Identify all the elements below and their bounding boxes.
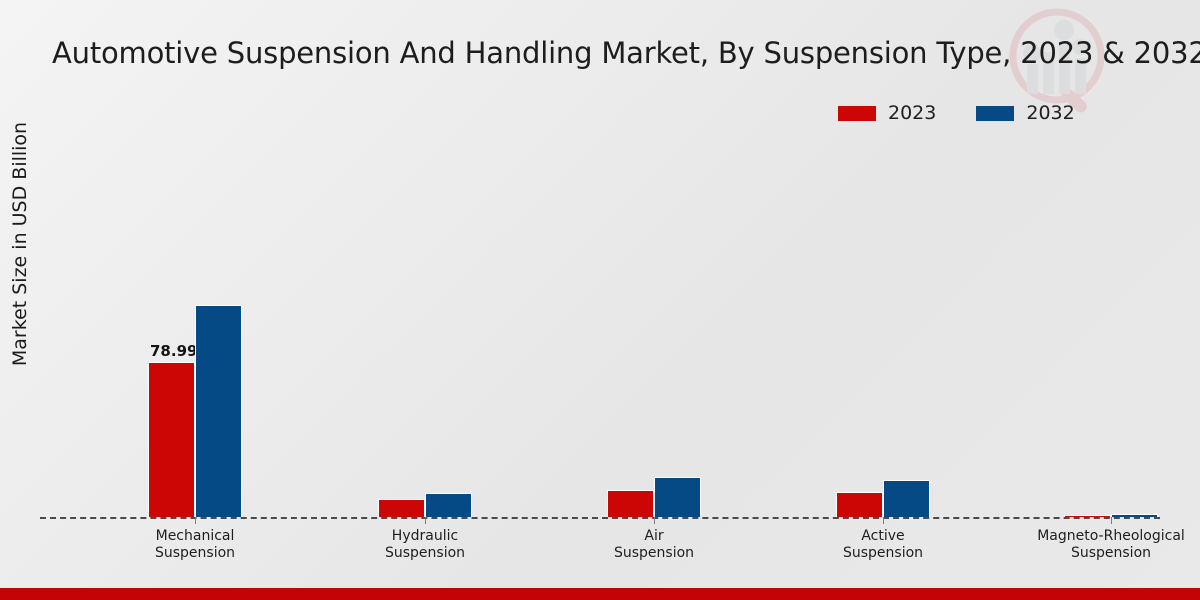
category-label-line: Suspension [385, 545, 465, 562]
plot-area: 78.99MechanicalSuspensionHydraulicSuspen… [40, 140, 1160, 518]
category-label-line: Suspension [1037, 545, 1185, 562]
bar-2023[interactable] [607, 490, 654, 517]
bar-2032[interactable] [425, 493, 472, 517]
bar-2032[interactable] [883, 480, 930, 517]
legend-swatch-2023 [838, 106, 876, 121]
x-axis-baseline [40, 517, 1160, 519]
x-axis-category-label: HydraulicSuspension [385, 528, 465, 562]
legend-item-2023[interactable]: 2023 [838, 104, 936, 123]
category-label-line: Hydraulic [385, 528, 465, 545]
bar-2023[interactable] [836, 492, 883, 517]
bar-pair [607, 477, 701, 517]
chart-legend: 2023 2032 [838, 104, 1075, 123]
bar-pair [378, 493, 472, 517]
x-axis-category-label: Magneto-RheologicalSuspension [1037, 528, 1185, 562]
bar-2032[interactable] [1111, 514, 1158, 517]
chart-title: Automotive Suspension And Handling Marke… [52, 36, 1200, 70]
x-axis-category-label: MechanicalSuspension [155, 528, 235, 562]
category-label-line: Air [614, 528, 694, 545]
x-axis-tick [425, 517, 426, 524]
category-label-line: Active [843, 528, 923, 545]
bar-group [1064, 147, 1158, 517]
bar-2023[interactable] [378, 499, 425, 517]
legend-label-2032: 2032 [1026, 104, 1074, 123]
bottom-accent-band [0, 588, 1200, 600]
category-label-line: Magneto-Rheological [1037, 528, 1185, 545]
bar-group [836, 147, 930, 517]
x-axis-tick [883, 517, 884, 524]
category-label-line: Mechanical [155, 528, 235, 545]
chart-page: Automotive Suspension And Handling Marke… [0, 0, 1200, 600]
x-axis-tick [654, 517, 655, 524]
bar-pair [148, 305, 242, 517]
x-axis-tick [1111, 517, 1112, 524]
category-label-line: Suspension [155, 545, 235, 562]
bar-group [607, 147, 701, 517]
x-axis-category-label: ActiveSuspension [843, 528, 923, 562]
category-label-line: Suspension [843, 545, 923, 562]
bar-pair [836, 480, 930, 517]
legend-swatch-2032 [976, 106, 1014, 121]
x-axis-category-label: AirSuspension [614, 528, 694, 562]
bar-group: 78.99 [148, 147, 242, 517]
bar-group [378, 147, 472, 517]
bar-2032[interactable] [654, 477, 701, 517]
category-label-line: Suspension [614, 545, 694, 562]
legend-item-2032[interactable]: 2032 [976, 104, 1074, 123]
bar-2023[interactable] [1064, 515, 1111, 517]
y-axis-title: Market Size in USD Billion [9, 84, 31, 404]
legend-label-2023: 2023 [888, 104, 936, 123]
x-axis-tick [195, 517, 196, 524]
bar-2032[interactable] [195, 305, 242, 517]
bar-2023[interactable] [148, 362, 195, 517]
